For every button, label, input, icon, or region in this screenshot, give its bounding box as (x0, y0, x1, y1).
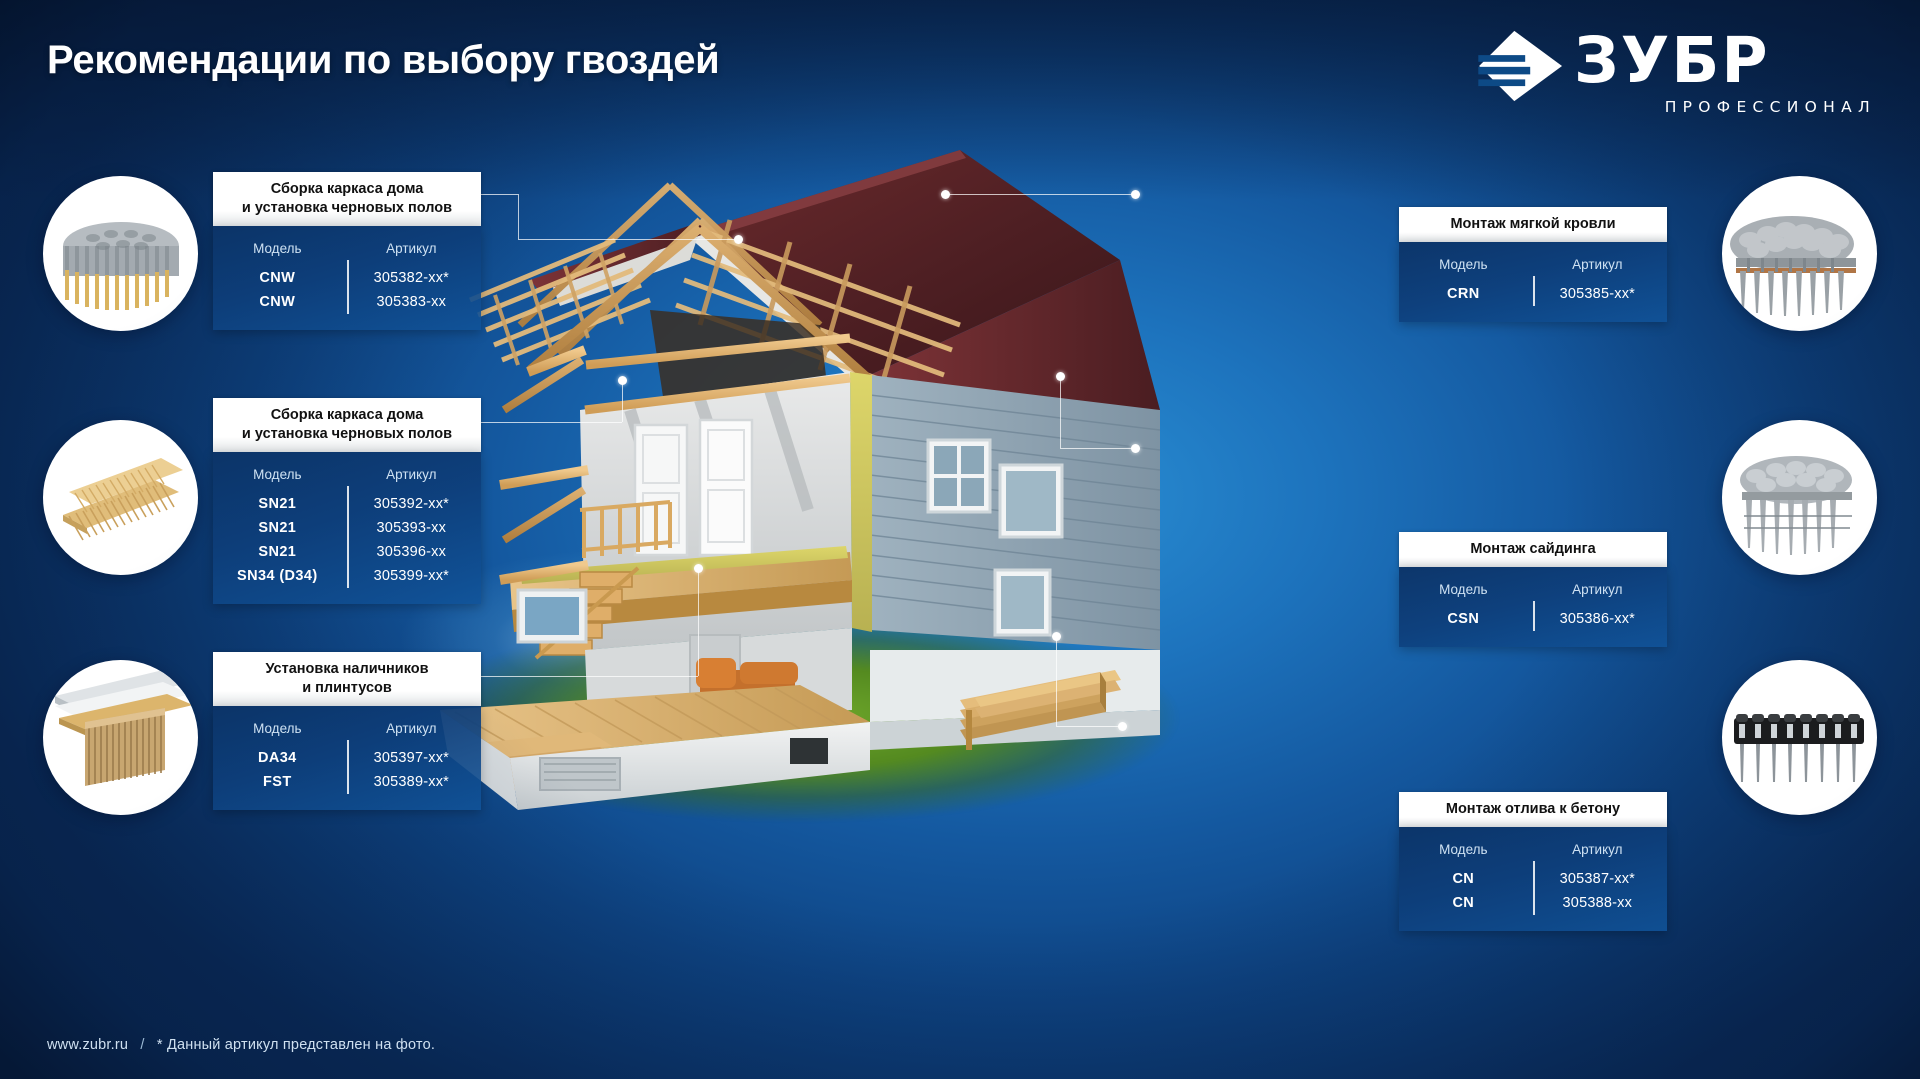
th-article: Артикул (342, 238, 481, 266)
th-article: Артикул (342, 464, 481, 492)
th-model: Модель (213, 238, 342, 266)
card-table: Модель Артикул CNW 305382-хх* CNW 305383… (213, 226, 481, 330)
footer-site-link[interactable]: www.zubr.ru (47, 1037, 128, 1053)
card-title: Сборка каркаса дома и установка черновых… (213, 172, 481, 226)
th-model: Модель (213, 718, 342, 746)
product-image-concrete-nails (1722, 660, 1877, 815)
th-model: Модель (1399, 839, 1528, 867)
card-title-line2: и плинтусов (219, 679, 475, 698)
column-divider (1533, 601, 1535, 631)
th-article: Артикул (1528, 839, 1667, 867)
connector-dot (941, 190, 950, 199)
connector-dot (1056, 372, 1065, 381)
product-image-siding-coil-nails (1722, 420, 1877, 575)
card-table: Модель Артикул CN 305387-хх* CN 305388-х… (1399, 827, 1667, 931)
th-article: Артикул (1528, 254, 1667, 282)
card-title-line1: Монтаж мягкой кровли (1405, 215, 1661, 234)
card-trim-and-baseboards[interactable]: Установка наличников и плинтусов Модель … (213, 652, 481, 810)
connector-segment (1056, 636, 1057, 726)
card-title-line1: Сборка каркаса дома (219, 180, 475, 199)
connector-segment (1060, 376, 1061, 448)
cell-model: CNW (213, 290, 342, 314)
cell-model: CSN (1399, 607, 1528, 631)
card-title: Сборка каркаса дома и установка черновых… (213, 398, 481, 452)
cell-model: FST (213, 770, 342, 794)
cell-article: 305388-хх (1528, 891, 1667, 915)
card-title-line2: и установка черновых полов (219, 199, 475, 218)
card-table: Модель Артикул DA34 305397-хх* FST 30538… (213, 706, 481, 810)
card-title: Монтаж сайдинга (1399, 532, 1667, 567)
th-article: Артикул (1528, 579, 1667, 607)
connector-segment (518, 239, 738, 240)
cell-article: 305382-хх* (342, 266, 481, 290)
cell-model: SN21 (213, 540, 342, 564)
connector-dot (1052, 632, 1061, 641)
connector-segment (1056, 726, 1121, 727)
column-divider (347, 740, 349, 794)
th-article: Артикул (342, 718, 481, 746)
column-divider (347, 260, 349, 314)
product-image-coil-nails (43, 176, 198, 331)
card-title-line1: Установка наличников (219, 660, 475, 679)
card-soft-roof-mounting[interactable]: Монтаж мягкой кровли Модель Артикул CRN … (1399, 207, 1667, 322)
card-title-line1: Монтаж сайдинга (1405, 540, 1661, 559)
cell-model: CNW (213, 266, 342, 290)
cell-model: CN (1399, 891, 1528, 915)
connector-dot (618, 376, 627, 385)
logo-subtitle: ПРОФЕССИОНАЛ (1665, 98, 1876, 116)
cell-article: 305386-хх* (1528, 607, 1667, 631)
cell-article: 305399-хх* (342, 564, 481, 588)
cell-model: CN (1399, 867, 1528, 891)
cell-model: SN21 (213, 516, 342, 540)
product-image-strip-nails (43, 420, 198, 575)
connector-segment (948, 194, 1134, 195)
card-title: Монтаж отлива к бетону (1399, 792, 1667, 827)
card-table: Модель Артикул CRN 305385-хх* (1399, 242, 1667, 322)
card-table: Модель Артикул SN21 305392-хх* SN21 3053… (213, 452, 481, 604)
cell-article: 305387-хх* (1528, 867, 1667, 891)
card-drip-edge-to-concrete[interactable]: Монтаж отлива к бетону Модель Артикул CN… (1399, 792, 1667, 931)
card-title-line1: Сборка каркаса дома (219, 406, 475, 425)
card-frame-assembly-sn[interactable]: Сборка каркаса дома и установка черновых… (213, 398, 481, 604)
footer-separator: / (132, 1037, 152, 1053)
card-title-line2: и установка черновых полов (219, 425, 475, 444)
card-table: Модель Артикул CSN 305386-хх* (1399, 567, 1667, 647)
connector-segment (622, 380, 623, 422)
cell-article: 305383-хх (342, 290, 481, 314)
card-title: Установка наличников и плинтусов (213, 652, 481, 706)
cell-article: 305397-хх* (342, 746, 481, 770)
cell-model: DA34 (213, 746, 342, 770)
product-image-finish-nails (43, 660, 198, 815)
page-title: Рекомендации по выбору гвоздей (47, 38, 719, 83)
cell-article: 305389-хх* (342, 770, 481, 794)
footer-note: * Данный артикул представлен на фото. (157, 1037, 435, 1053)
cell-article: 305396-хх (342, 540, 481, 564)
cell-article: 305392-хх* (342, 492, 481, 516)
zubr-logo: ЗУБР ПРОФЕССИОНАЛ (1478, 24, 1878, 114)
connector-segment (698, 568, 699, 676)
th-model: Модель (1399, 579, 1528, 607)
cell-article: 305393-хх (342, 516, 481, 540)
cell-model: CRN (1399, 282, 1528, 306)
card-title: Монтаж мягкой кровли (1399, 207, 1667, 242)
card-title-line1: Монтаж отлива к бетону (1405, 800, 1661, 819)
zubr-diamond-icon (1478, 30, 1564, 102)
column-divider (1533, 861, 1535, 915)
cell-article: 305385-хх* (1528, 282, 1667, 306)
column-divider (347, 486, 349, 588)
card-frame-assembly-cnw[interactable]: Сборка каркаса дома и установка черновых… (213, 172, 481, 330)
logo-wordmark: ЗУБР (1574, 24, 1770, 98)
connector-segment (518, 194, 519, 239)
cell-model: SN21 (213, 492, 342, 516)
th-model: Модель (1399, 254, 1528, 282)
connector-segment (472, 422, 622, 423)
card-siding-mounting[interactable]: Монтаж сайдинга Модель Артикул CSN 30538… (1399, 532, 1667, 647)
footer: www.zubr.ru / * Данный артикул представл… (47, 1037, 435, 1053)
column-divider (1533, 276, 1535, 306)
connector-segment (443, 676, 698, 677)
connector-dot (734, 235, 743, 244)
cell-model: SN34 (D34) (213, 564, 342, 588)
connector-dot (694, 564, 703, 573)
connector-segment (1060, 448, 1134, 449)
product-image-roofing-coil-nails (1722, 176, 1877, 331)
th-model: Модель (213, 464, 342, 492)
